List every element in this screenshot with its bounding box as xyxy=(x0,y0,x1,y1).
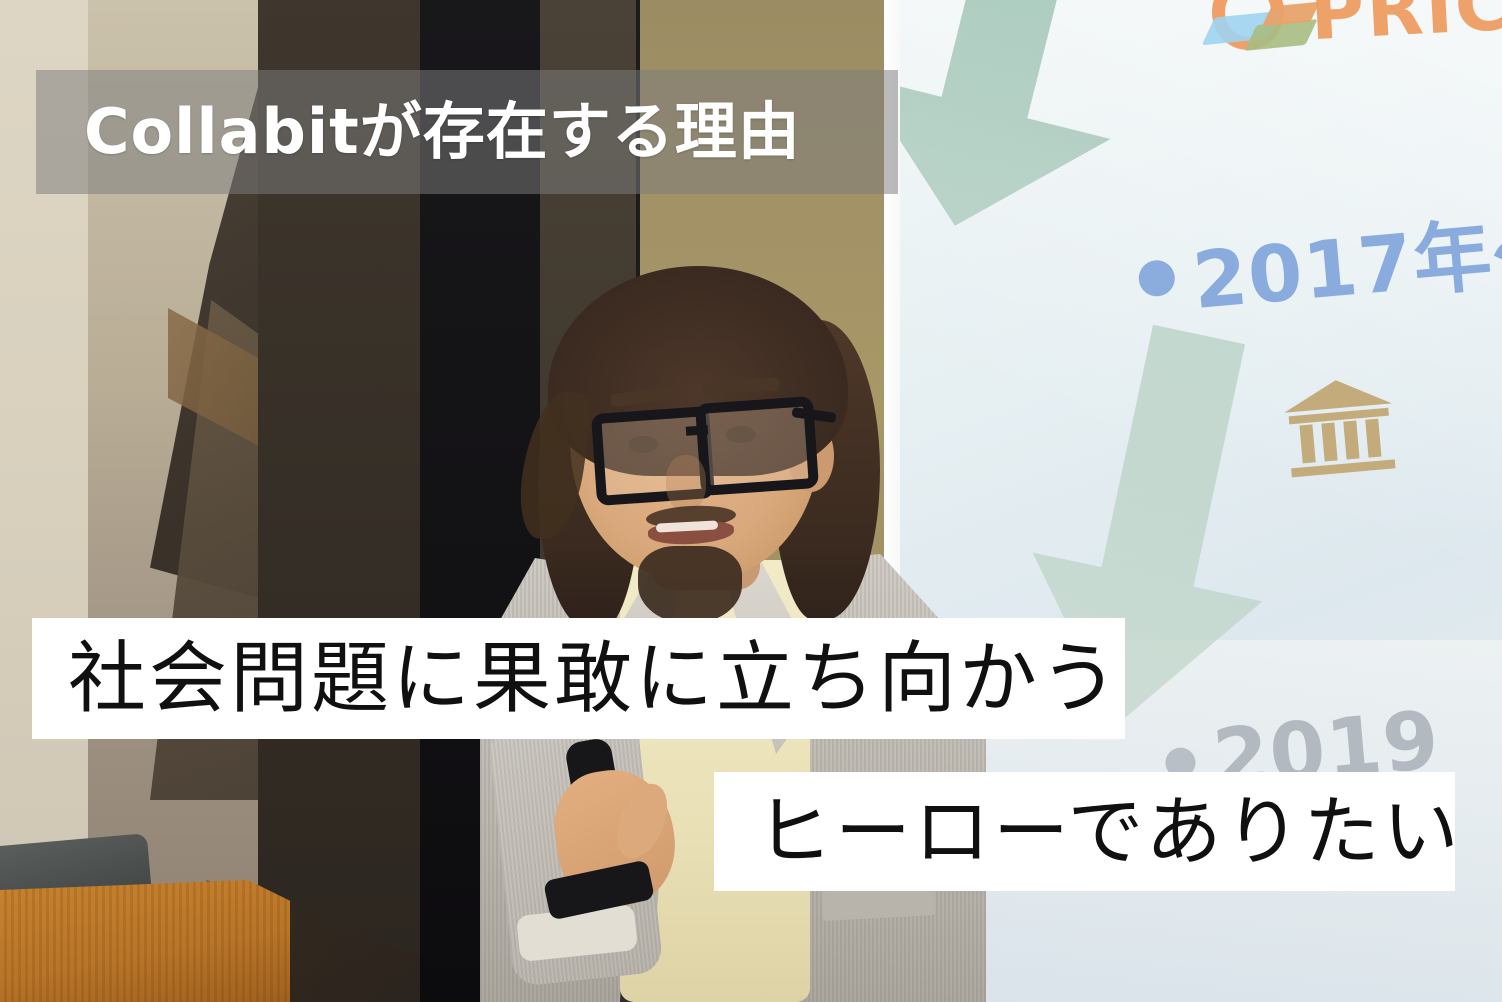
caption-line-1-text: 社会問題に果敢に立ち向かう xyxy=(68,640,1121,718)
screenshot-stage: PRIC 2017年〜 2019 xyxy=(0,0,1502,1002)
slide-bullet-icon-2017 xyxy=(1137,259,1176,298)
glasses-bridge xyxy=(686,425,709,436)
caption-band-line-1: 社会問題に果敢に立ち向かう xyxy=(32,618,1125,739)
slide-brand-text: PRIC xyxy=(1308,0,1502,57)
title-caption-band: Collabitが存在する理由 xyxy=(36,70,898,194)
goatee xyxy=(638,546,742,624)
caption-band-line-2: ヒーローでありたい xyxy=(714,772,1455,891)
nose xyxy=(666,455,706,511)
page-title: Collabitが存在する理由 xyxy=(84,101,801,163)
caption-line-2-text: ヒーローでありたい xyxy=(756,794,1462,870)
podium-lectern xyxy=(0,880,290,1002)
bank-building-icon xyxy=(1278,373,1403,487)
